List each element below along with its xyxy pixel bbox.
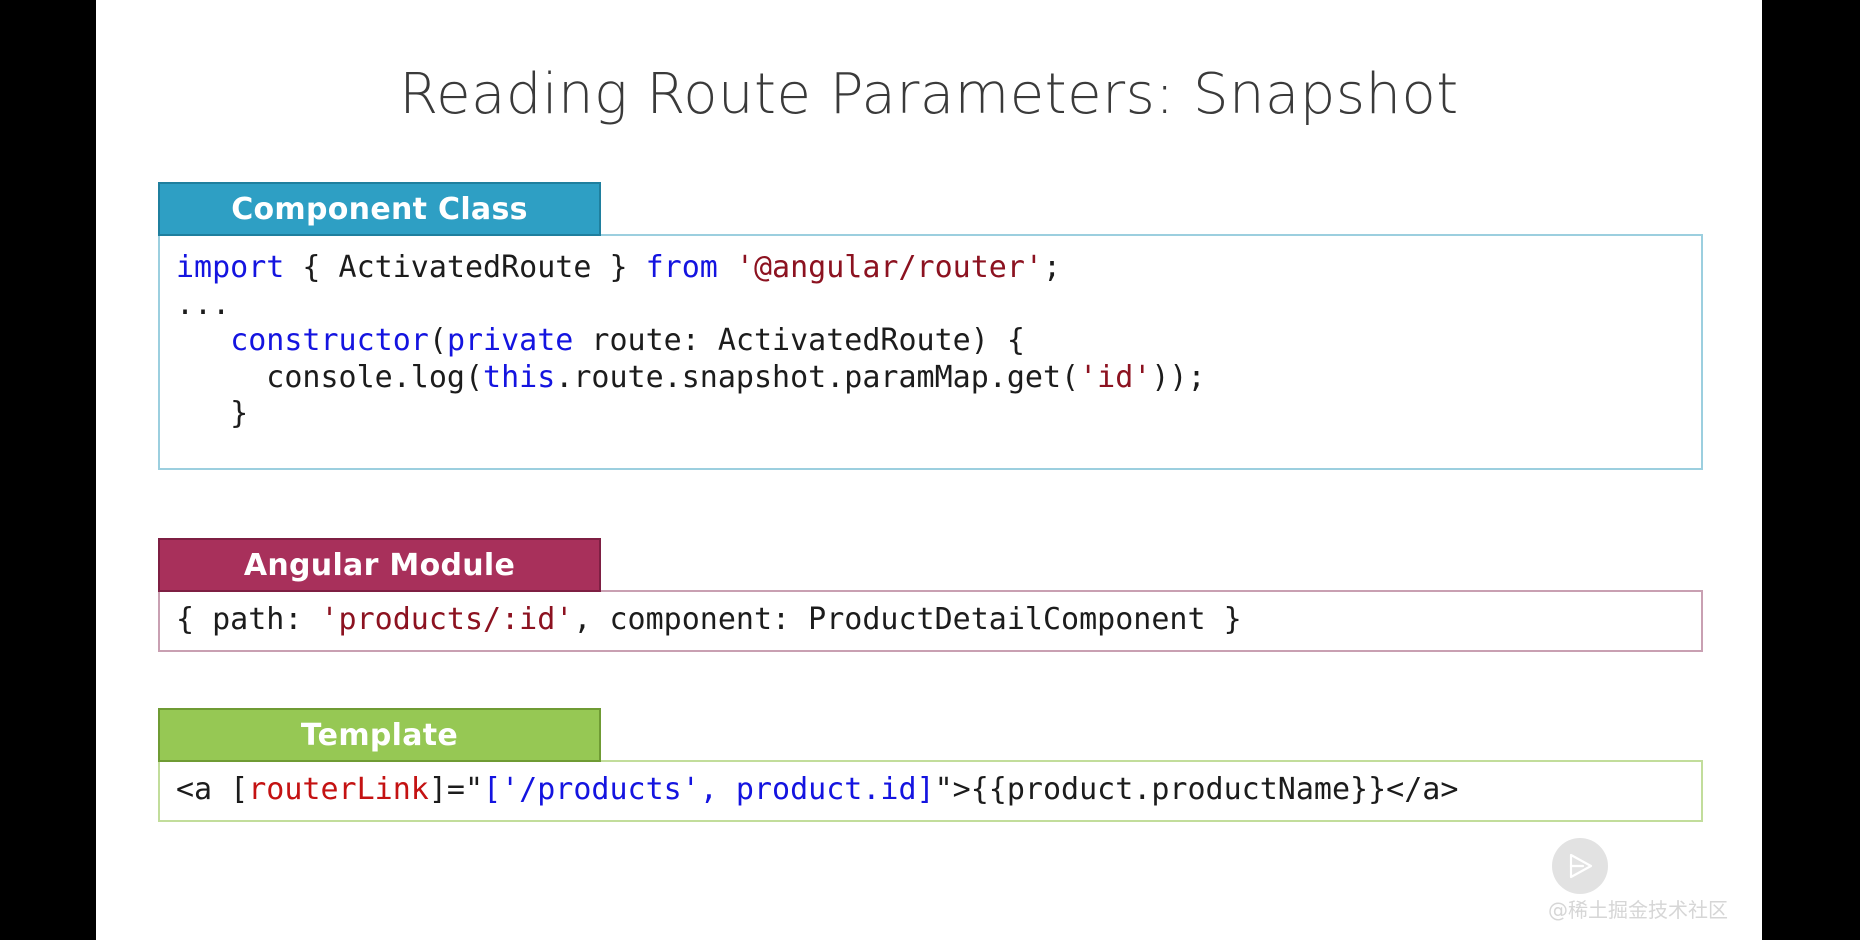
code-token: 'products/:id' bbox=[321, 602, 574, 637]
section-tab-component-class: Component Class bbox=[158, 182, 601, 236]
code-token: routerLink bbox=[248, 772, 429, 807]
code-token: } bbox=[176, 396, 248, 431]
section-tab-angular-module: Angular Module bbox=[158, 538, 601, 592]
code-token: ">{{product.productName}}</a> bbox=[935, 772, 1459, 807]
code-token: <a [ bbox=[176, 772, 248, 807]
code-token: .route.snapshot.paramMap.get( bbox=[555, 360, 1079, 395]
code-token: { ActivatedRoute } bbox=[284, 250, 645, 285]
code-token: console.log( bbox=[176, 360, 483, 395]
code-token: from bbox=[646, 250, 718, 285]
play-circle-icon bbox=[1552, 838, 1608, 894]
code-token: ( bbox=[429, 323, 447, 358]
slide-frame: Reading Route Parameters: Snapshot Compo… bbox=[0, 0, 1860, 940]
watermark: @稀土掘金技术社区 bbox=[1524, 838, 1752, 932]
code-block-angular-module: { path: 'products/:id', component: Produ… bbox=[158, 590, 1703, 652]
code-token: '@angular/router' bbox=[736, 250, 1043, 285]
letterbox-left bbox=[0, 0, 96, 940]
letterbox-right bbox=[1762, 0, 1860, 940]
code-token: this bbox=[483, 360, 555, 395]
code-token: { path: bbox=[176, 602, 321, 637]
code-token bbox=[176, 323, 230, 358]
code-token: route: ActivatedRoute) { bbox=[573, 323, 1025, 358]
code-token: , component: ProductDetailComponent } bbox=[573, 602, 1241, 637]
section-template: Template <a [routerLink]="['/products', … bbox=[158, 708, 1703, 822]
section-component-class: Component Class import { ActivatedRoute … bbox=[158, 182, 1703, 470]
code-token: ; bbox=[1043, 250, 1061, 285]
code-token: import bbox=[176, 250, 284, 285]
section-tab-template: Template bbox=[158, 708, 601, 762]
code-token: private bbox=[447, 323, 573, 358]
code-token bbox=[718, 250, 736, 285]
code-token: ['/products', product.id] bbox=[483, 772, 935, 807]
slide-canvas: Reading Route Parameters: Snapshot Compo… bbox=[96, 0, 1762, 940]
code-block-component-class: import { ActivatedRoute } from '@angular… bbox=[158, 234, 1703, 470]
code-token: )); bbox=[1151, 360, 1205, 395]
code-token: ... bbox=[176, 287, 230, 322]
code-token: constructor bbox=[230, 323, 429, 358]
watermark-text: @稀土掘金技术社区 bbox=[1524, 894, 1752, 923]
page-title: Reading Route Parameters: Snapshot bbox=[96, 62, 1762, 127]
code-block-template: <a [routerLink]="['/products', product.i… bbox=[158, 760, 1703, 822]
code-token: 'id' bbox=[1079, 360, 1151, 395]
code-token: ]=" bbox=[429, 772, 483, 807]
section-angular-module: Angular Module { path: 'products/:id', c… bbox=[158, 538, 1703, 652]
